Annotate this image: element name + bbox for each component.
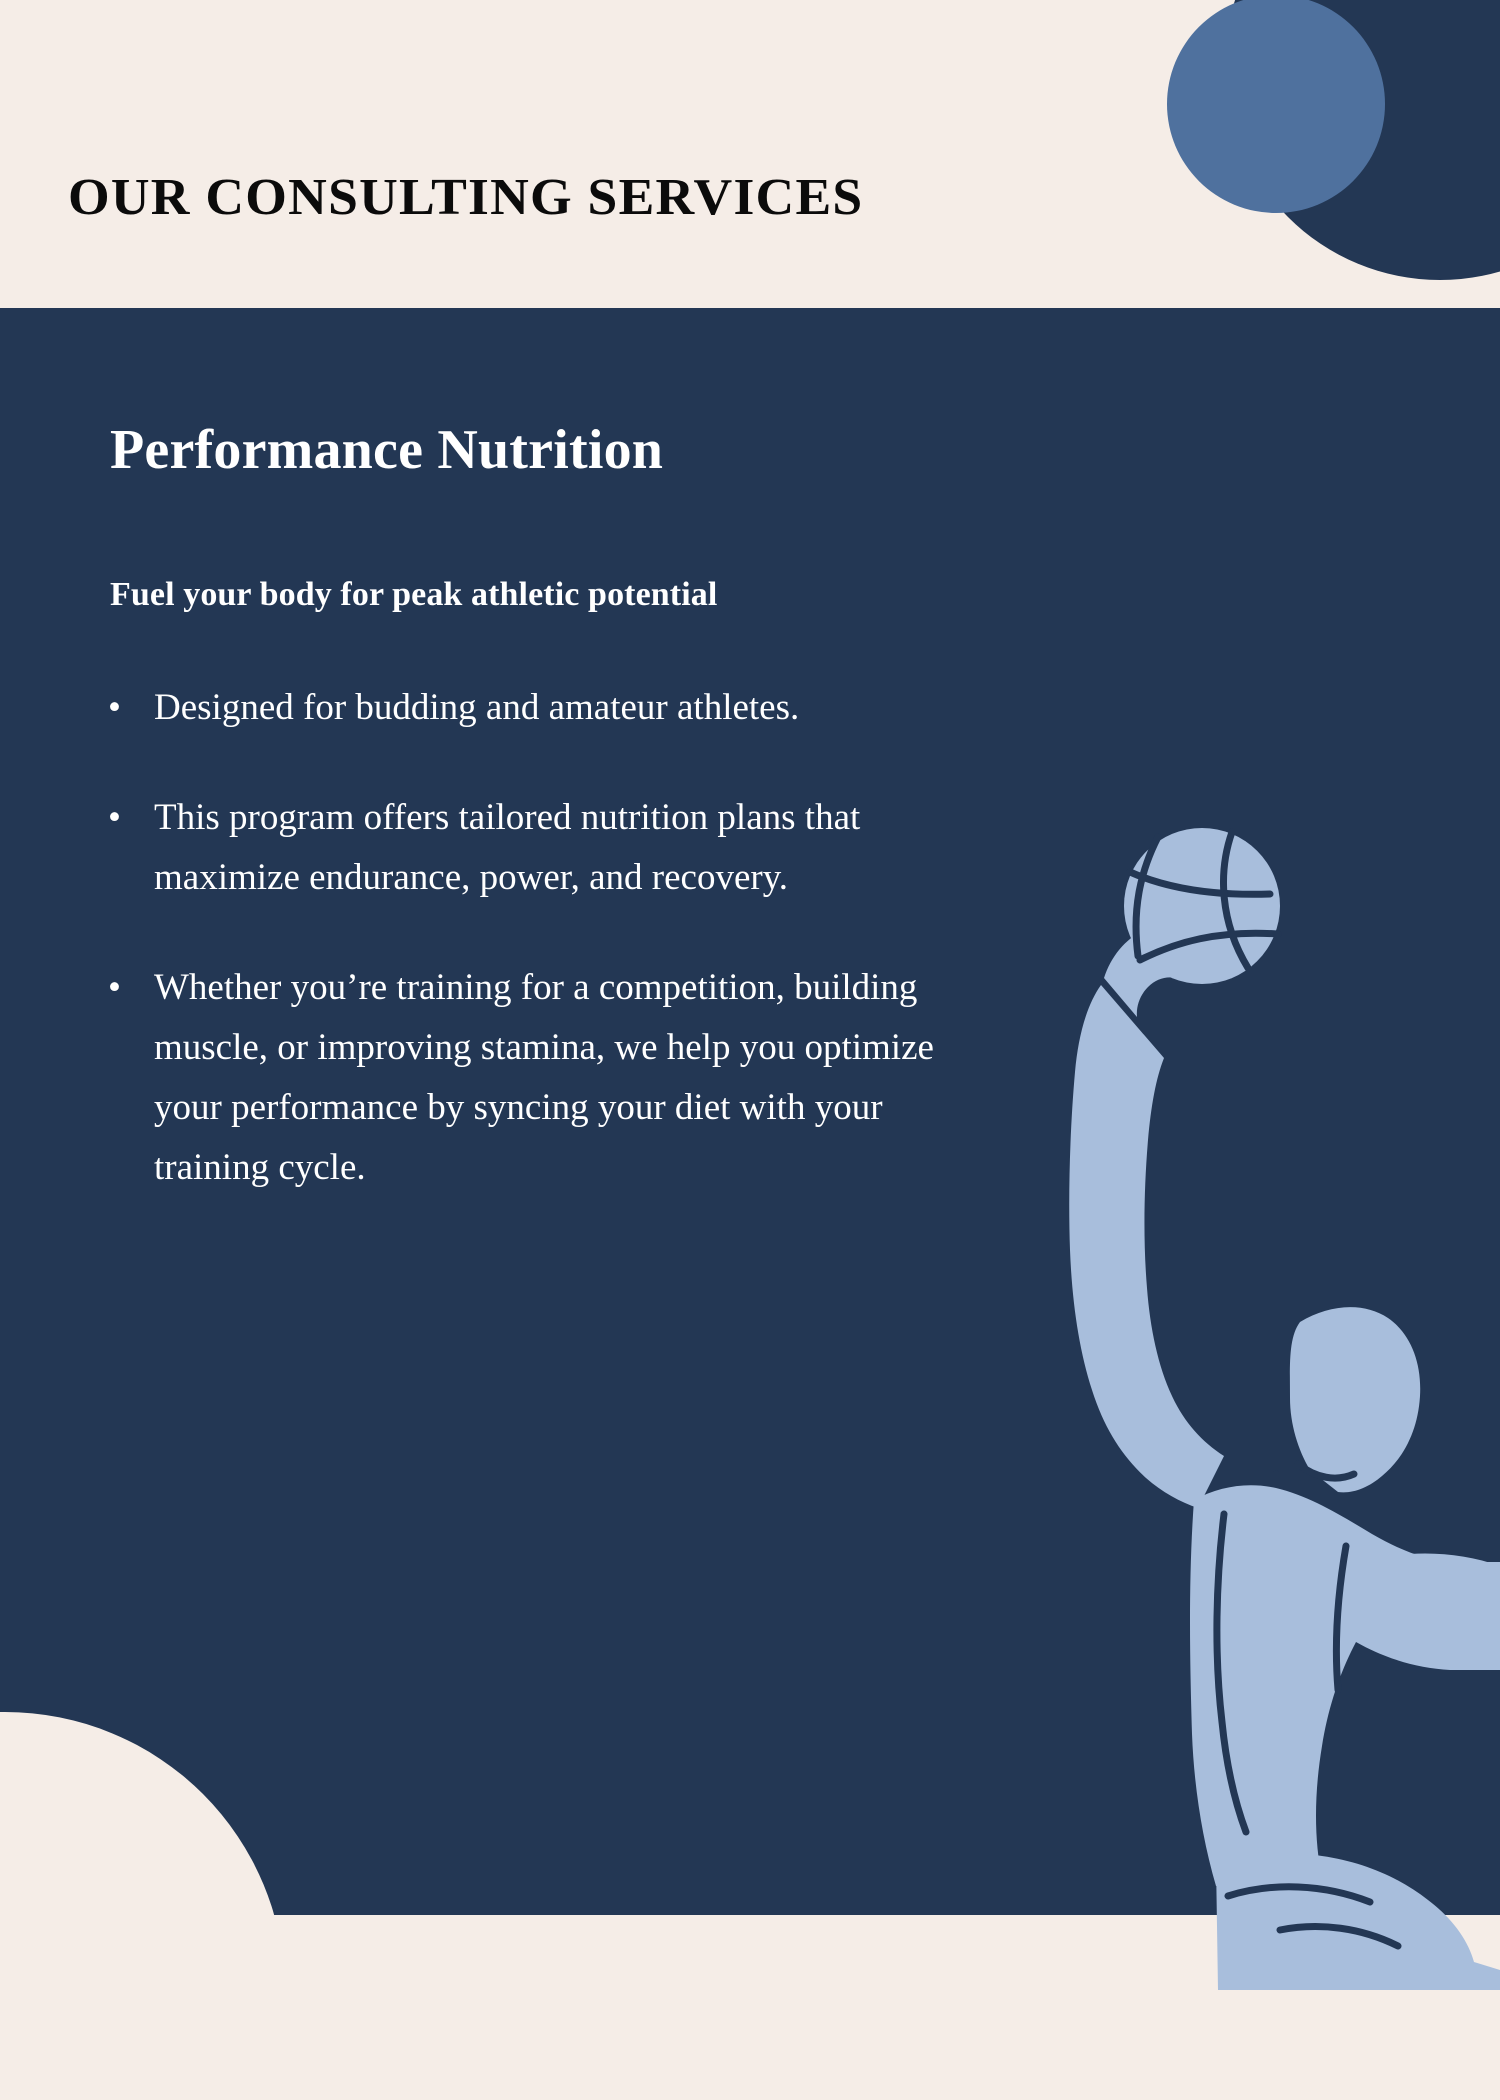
bullet-point-icon: • — [102, 958, 154, 1018]
bullet-point-icon: • — [102, 788, 154, 848]
bullet-text: Designed for budding and amateur athlete… — [154, 678, 854, 738]
bullet-text: This program offers tailored nutrition p… — [154, 788, 914, 908]
list-item: • Designed for budding and amateur athle… — [102, 678, 1112, 738]
list-item: • Whether you’re training for a competit… — [102, 958, 1112, 1198]
medium-blue-circle-decoration — [1167, 0, 1385, 213]
service-bullet-list: • Designed for budding and amateur athle… — [102, 678, 1112, 1198]
poster-canvas: OUR CONSULTING SERVICES — [0, 0, 1500, 2100]
bullet-text: Whether you’re training for a competitio… — [154, 958, 944, 1198]
list-item: • This program offers tailored nutrition… — [102, 788, 1112, 908]
page-title: OUR CONSULTING SERVICES — [68, 168, 863, 227]
section-subheading: Fuel your body for peak athletic potenti… — [110, 576, 717, 614]
bullet-point-icon: • — [102, 678, 154, 738]
section-heading: Performance Nutrition — [110, 418, 663, 482]
athlete-body-group — [1069, 828, 1500, 1990]
